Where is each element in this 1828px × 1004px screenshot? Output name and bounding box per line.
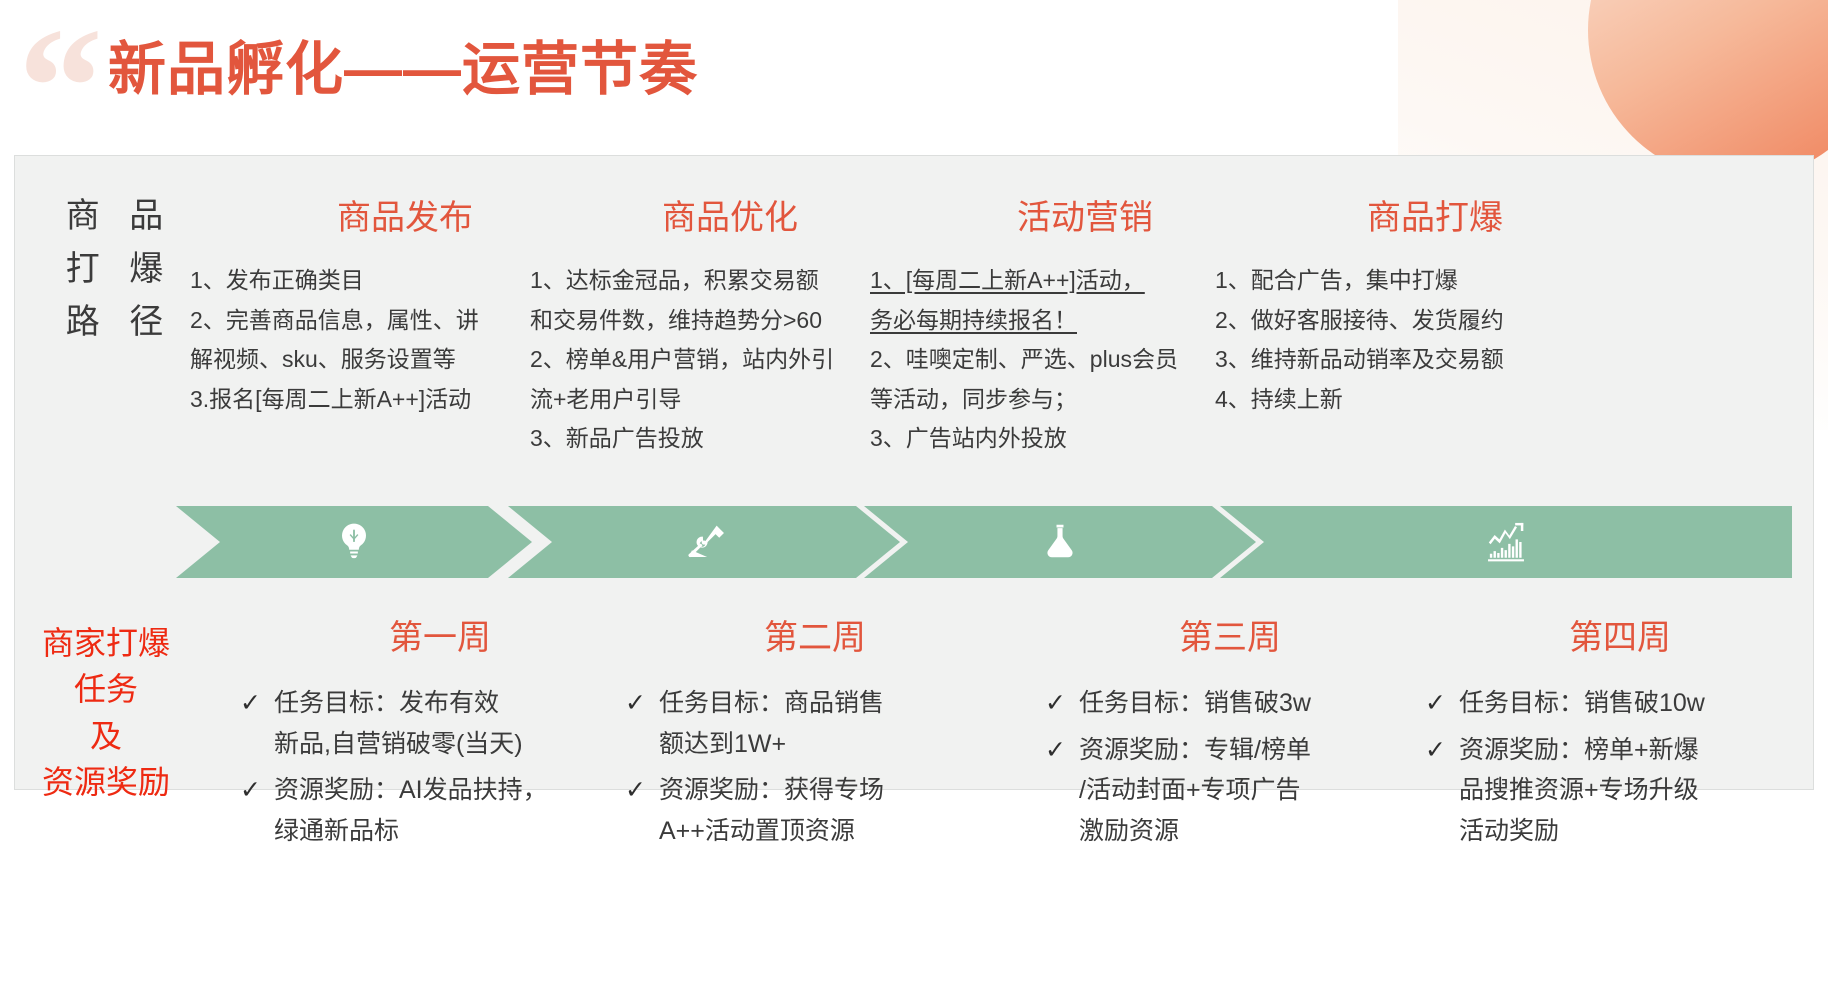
stage-2-line-3: 2、榜单&用户营销，站内外引 <box>530 340 870 380</box>
week-title-1: 第一周 <box>280 610 600 659</box>
week-2-item-2-line-2: A++活动置顶资源 <box>659 811 884 852</box>
stage-3-line-1: 1、[每周二上新A++]活动， <box>870 261 1230 301</box>
stage-2-line-1: 1、达标金冠品，积累交易额 <box>530 261 870 301</box>
quote-mark-icon: “ <box>18 2 95 172</box>
check-icon: ✓ <box>1425 683 1459 724</box>
week-title-2: 第二周 <box>655 610 975 659</box>
week-1-item-1: ✓任务目标：发布有效新品,自营销破零(当天) <box>240 683 600 764</box>
week-column-4: 第四周 ✓任务目标：销售破10w✓资源奖励：榜单+新爆品搜推资源+专场升级活动奖… <box>1425 610 1805 857</box>
ribbon-segment-1[interactable] <box>176 506 532 578</box>
week-4-item-2-line-1: 资源奖励：榜单+新爆 <box>1459 730 1699 771</box>
reward-label-line-3: 及 <box>22 713 190 759</box>
flask-icon <box>1038 520 1082 564</box>
stage-2-line-5: 3、新品广告投放 <box>530 419 870 459</box>
stage-body-3: 1、[每周二上新A++]活动，务必每期持续报名！2、哇噢定制、严选、plus会员… <box>870 261 1230 459</box>
stage-column-3: 活动营销 1、[每周二上新A++]活动，务必每期持续报名！2、哇噢定制、严选、p… <box>870 190 1230 459</box>
lightbulb-icon <box>332 520 376 564</box>
stage-1-line-3: 解视频、sku、服务设置等 <box>190 340 550 380</box>
week-2-item-2-text: 资源奖励：获得专场A++活动置顶资源 <box>659 770 884 851</box>
slide-canvas: “ 新品孵化——运营节奏 商 品 打 爆 路 径 商家打爆 任务 及 资源奖励 … <box>0 0 1828 1004</box>
stage-1-line-2: 2、完善商品信息，属性、讲 <box>190 301 550 341</box>
stage-column-2: 商品优化 1、达标金冠品，积累交易额和交易件数，维持趋势分>602、榜单&用户营… <box>530 190 870 459</box>
stage-2-line-4: 流+老用户引导 <box>530 380 870 420</box>
week-items-3: ✓任务目标：销售破3w✓资源奖励：专辑/榜单/活动封面+专项广告激励资源 <box>1045 683 1405 851</box>
stage-2-line-2: 和交易件数，维持趋势分>60 <box>530 301 870 341</box>
week-1-item-1-line-2: 新品,自营销破零(当天) <box>274 724 523 765</box>
growth-chart-icon <box>1484 520 1528 564</box>
reward-label-line-2: 任务 <box>22 666 190 712</box>
week-2-item-1: ✓任务目标：商品销售额达到1W+ <box>625 683 975 764</box>
path-label-line-1: 商 品 <box>42 190 187 243</box>
week-2-item-1-line-1: 任务目标：商品销售 <box>659 683 884 724</box>
stage-title-2: 商品优化 <box>590 190 870 239</box>
stage-3-line-5: 3、广告站内外投放 <box>870 419 1230 459</box>
stage-column-4: 商品打爆 1、配合广告，集中打爆2、做好客服接待、发货履约3、维持新品动销率及交… <box>1215 190 1595 419</box>
stage-1-line-4: 3.报名[每周二上新A++]活动 <box>190 380 550 420</box>
week-4-item-2-line-2: 品搜推资源+专场升级 <box>1459 770 1699 811</box>
week-1-item-2-line-2: 绿通新品标 <box>274 811 548 852</box>
week-title-3: 第三周 <box>1055 610 1405 659</box>
stage-1-line-1: 1、发布正确类目 <box>190 261 550 301</box>
week-2-item-2-line-1: 资源奖励：获得专场 <box>659 770 884 811</box>
path-label-line-3: 路 径 <box>42 296 187 349</box>
ribbon-segment-4[interactable] <box>1220 506 1792 578</box>
week-column-1: 第一周 ✓任务目标：发布有效新品,自营销破零(当天)✓资源奖励：AI发品扶持，绿… <box>240 610 600 857</box>
week-items-4: ✓任务目标：销售破10w✓资源奖励：榜单+新爆品搜推资源+专场升级活动奖励 <box>1425 683 1805 851</box>
reward-section-label: 商家打爆 任务 及 资源奖励 <box>22 620 190 806</box>
check-icon: ✓ <box>625 683 659 724</box>
week-title-4: 第四周 <box>1435 610 1805 659</box>
check-icon: ✓ <box>240 683 274 724</box>
stage-4-line-3: 3、维持新品动销率及交易额 <box>1215 340 1595 380</box>
week-1-item-1-line-1: 任务目标：发布有效 <box>274 683 523 724</box>
week-3-item-2-line-1: 资源奖励：专辑/榜单 <box>1079 730 1311 771</box>
stage-3-line-4: 等活动，同步参与； <box>870 380 1230 420</box>
week-2-item-1-line-2: 额达到1W+ <box>659 724 884 765</box>
stage-3-line-2: 务必每期持续报名！ <box>870 301 1230 341</box>
week-3-item-1-text: 任务目标：销售破3w <box>1079 683 1311 724</box>
week-1-item-2-line-1: 资源奖励：AI发品扶持， <box>274 770 548 811</box>
week-3-item-1: ✓任务目标：销售破3w <box>1045 683 1405 724</box>
week-3-item-2: ✓资源奖励：专辑/榜单/活动封面+专项广告激励资源 <box>1045 730 1405 852</box>
stage-3-line-3: 2、哇噢定制、严选、plus会员 <box>870 340 1230 380</box>
decorative-corner-circle <box>1588 0 1828 180</box>
check-icon: ✓ <box>240 770 274 811</box>
path-label-line-2: 打 爆 <box>42 243 187 296</box>
week-4-item-1-line-1: 任务目标：销售破10w <box>1459 683 1705 724</box>
check-icon: ✓ <box>1425 730 1459 771</box>
stage-body-2: 1、达标金冠品，积累交易额和交易件数，维持趋势分>602、榜单&用户营销，站内外… <box>530 261 870 459</box>
check-icon: ✓ <box>1045 683 1079 724</box>
week-4-item-2: ✓资源奖励：榜单+新爆品搜推资源+专场升级活动奖励 <box>1425 730 1805 852</box>
week-items-1: ✓任务目标：发布有效新品,自营销破零(当天)✓资源奖励：AI发品扶持，绿通新品标 <box>240 683 600 851</box>
week-column-3: 第三周 ✓任务目标：销售破3w✓资源奖励：专辑/榜单/活动封面+专项广告激励资源 <box>1045 610 1405 857</box>
week-4-item-1: ✓任务目标：销售破10w <box>1425 683 1805 724</box>
stage-title-1: 商品发布 <box>260 190 550 239</box>
week-3-item-2-line-2: /活动封面+专项广告 <box>1079 770 1311 811</box>
reward-label-line-1: 商家打爆 <box>22 620 190 666</box>
week-4-item-2-line-3: 活动奖励 <box>1459 811 1699 852</box>
week-2-item-1-text: 任务目标：商品销售额达到1W+ <box>659 683 884 764</box>
stage-body-4: 1、配合广告，集中打爆2、做好客服接待、发货履约3、维持新品动销率及交易额4、持… <box>1215 261 1595 419</box>
ribbon-segment-2[interactable] <box>508 506 900 578</box>
stage-4-line-1: 1、配合广告，集中打爆 <box>1215 261 1595 301</box>
ribbon-segment-3[interactable] <box>864 506 1256 578</box>
stage-title-4: 商品打爆 <box>1275 190 1595 239</box>
pen-nib-icon <box>682 520 726 564</box>
stage-4-line-2: 2、做好客服接待、发货履约 <box>1215 301 1595 341</box>
week-items-2: ✓任务目标：商品销售额达到1W+✓资源奖励：获得专场A++活动置顶资源 <box>625 683 975 851</box>
week-2-item-2: ✓资源奖励：获得专场A++活动置顶资源 <box>625 770 975 851</box>
page-title: 新品孵化——运营节奏 <box>108 22 698 106</box>
week-1-item-1-text: 任务目标：发布有效新品,自营销破零(当天) <box>274 683 523 764</box>
check-icon: ✓ <box>625 770 659 811</box>
week-3-item-1-line-1: 任务目标：销售破3w <box>1079 683 1311 724</box>
stage-4-line-4: 4、持续上新 <box>1215 380 1595 420</box>
stage-title-3: 活动营销 <box>940 190 1230 239</box>
week-column-2: 第二周 ✓任务目标：商品销售额达到1W+✓资源奖励：获得专场A++活动置顶资源 <box>625 610 975 857</box>
week-3-item-2-text: 资源奖励：专辑/榜单/活动封面+专项广告激励资源 <box>1079 730 1311 852</box>
week-1-item-2: ✓资源奖励：AI发品扶持，绿通新品标 <box>240 770 600 851</box>
week-1-item-2-text: 资源奖励：AI发品扶持，绿通新品标 <box>274 770 548 851</box>
stage-body-1: 1、发布正确类目2、完善商品信息，属性、讲解视频、sku、服务设置等3.报名[每… <box>190 261 550 419</box>
week-4-item-2-text: 资源奖励：榜单+新爆品搜推资源+专场升级活动奖励 <box>1459 730 1699 852</box>
week-3-item-2-line-3: 激励资源 <box>1079 811 1311 852</box>
reward-label-line-4: 资源奖励 <box>22 759 190 805</box>
path-section-label: 商 品 打 爆 路 径 <box>42 190 187 349</box>
check-icon: ✓ <box>1045 730 1079 771</box>
week-4-item-1-text: 任务目标：销售破10w <box>1459 683 1705 724</box>
process-ribbon <box>176 506 1792 578</box>
stage-column-1: 商品发布 1、发布正确类目2、完善商品信息，属性、讲解视频、sku、服务设置等3… <box>190 190 550 419</box>
